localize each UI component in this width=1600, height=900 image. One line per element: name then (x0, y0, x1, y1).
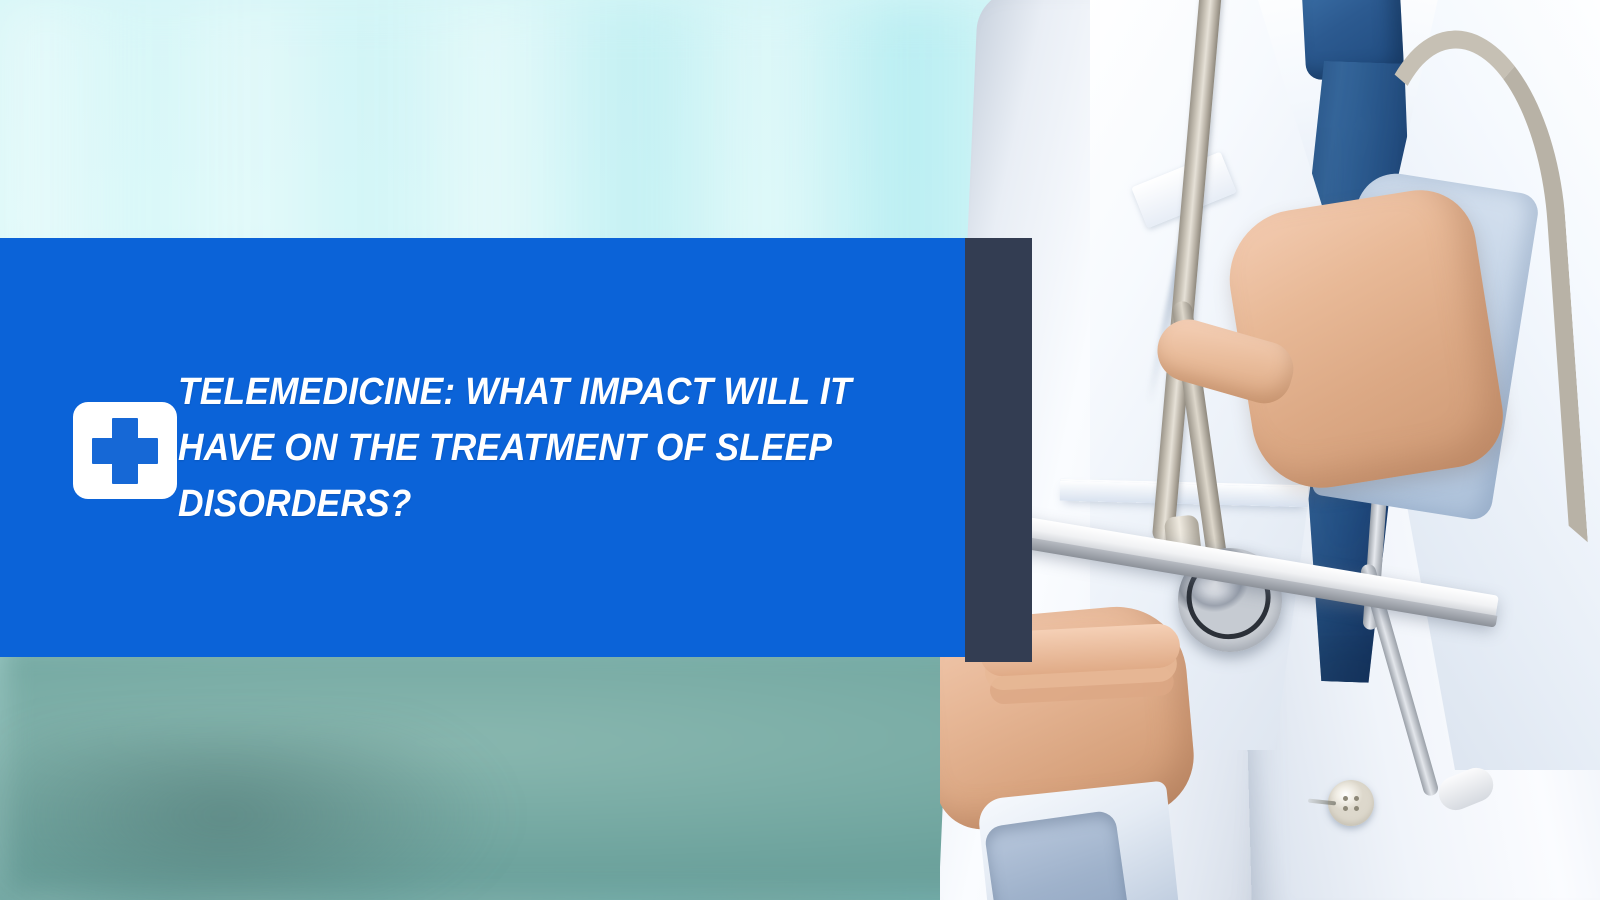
banner-content: TELEMEDICINE: WHAT IMPACT WILL IT HAVE O… (0, 238, 965, 657)
page-title-line-3: DISORDERS? (178, 476, 852, 532)
medical-cross-icon (73, 402, 177, 499)
doctor-photo (940, 0, 1600, 900)
page-title-line-1: TELEMEDICINE: WHAT IMPACT WILL IT (178, 364, 852, 420)
title-banner: TELEMEDICINE: WHAT IMPACT WILL IT HAVE O… (0, 238, 965, 657)
banner-accent-stripe (965, 238, 1032, 662)
page-title-line-2: HAVE ON THE TREATMENT OF SLEEP (178, 420, 852, 476)
hero-banner-stage: TELEMEDICINE: WHAT IMPACT WILL IT HAVE O… (0, 0, 1600, 900)
background-floor-shadow (0, 730, 560, 900)
page-title: TELEMEDICINE: WHAT IMPACT WILL IT HAVE O… (178, 364, 852, 532)
